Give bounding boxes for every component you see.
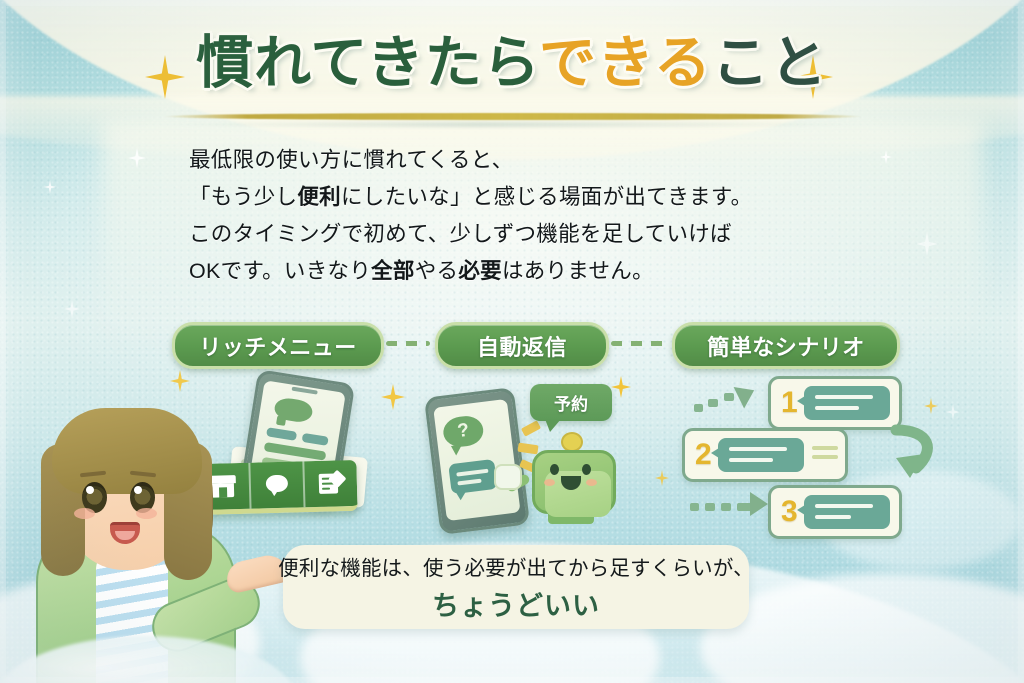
phone-notch bbox=[292, 387, 318, 395]
rich-menu-item-form[interactable] bbox=[304, 460, 357, 507]
reservation-bubble: 予約 bbox=[530, 384, 612, 421]
character-blush-right bbox=[136, 508, 157, 519]
body-line-1: 最低限の使い方に慣れてくると、 bbox=[189, 142, 752, 179]
character-eye-highlight-left bbox=[86, 486, 94, 494]
form-pencil-icon bbox=[318, 471, 345, 496]
scenario-bubble-icon bbox=[718, 438, 804, 472]
robot-antenna-ball bbox=[561, 432, 583, 452]
question-bubble-tail bbox=[451, 445, 463, 456]
step-pill-rich-menu[interactable]: リッチメニュー bbox=[172, 322, 384, 369]
robot-hand bbox=[494, 464, 522, 490]
title-divider bbox=[163, 113, 863, 120]
question-mark: ? bbox=[456, 420, 470, 443]
answer-bubble-icon bbox=[448, 459, 497, 494]
scenario-step-card-3: 3 bbox=[768, 485, 902, 539]
robot-mascot-illustration bbox=[528, 438, 614, 518]
bottom-caption: 便利な機能は、使う必要が出てから足すくらいが、 ちょうどいい bbox=[283, 545, 749, 629]
robot-cheek-left bbox=[544, 479, 555, 486]
caption-line-1: 便利な機能は、使う必要が出てから足すくらいが、 bbox=[278, 551, 754, 581]
question-bubble-icon: ? bbox=[442, 414, 485, 449]
step-connector-1 bbox=[386, 341, 430, 346]
scenario-bubble-icon bbox=[804, 386, 890, 420]
step-pill-label: 自動返信 bbox=[477, 330, 567, 362]
title-part-1: 慣れてきたら bbox=[196, 31, 539, 95]
character-illustration bbox=[14, 404, 282, 683]
step-pill-auto-reply[interactable]: 自動返信 bbox=[435, 322, 609, 369]
body-line-4: OKです。いきなり全部やる必要はありません。 bbox=[189, 253, 752, 290]
body-paragraph: 最低限の使い方に慣れてくると、 「もう少し便利にしたいな」と感じる場面が出てきま… bbox=[189, 142, 752, 290]
scenario-arrow-curve bbox=[890, 424, 950, 491]
title-divider-shadow bbox=[170, 122, 860, 127]
scenario-bubble-icon bbox=[804, 495, 890, 529]
title-accent: できる bbox=[539, 31, 712, 95]
character-eye-highlight-right bbox=[134, 486, 142, 494]
scenario-text-lines bbox=[812, 446, 838, 464]
scenario-step-card-1: 1 bbox=[768, 376, 902, 430]
slide-canvas: 慣れてきたらできること 最低限の使い方に慣れてくると、 「もう少し便利にしたいな… bbox=[0, 0, 1024, 683]
character-blush-left bbox=[74, 508, 95, 519]
robot-cheek-right bbox=[586, 479, 597, 486]
caption-line-2: ちょうどいい bbox=[432, 584, 600, 623]
title-part-3: こと bbox=[712, 31, 828, 95]
reservation-bubble-label: 予約 bbox=[554, 390, 588, 415]
body-line-2: 「もう少し便利にしたいな」と感じる場面が出てきます。 bbox=[189, 179, 752, 216]
robot-eye-right bbox=[582, 464, 591, 475]
auto-reply-phone-illustration: ? bbox=[424, 387, 530, 535]
scenario-step-number: 1 bbox=[781, 386, 798, 420]
curve-arrow-icon bbox=[890, 424, 950, 486]
page-title: 慣れてきたらできること bbox=[0, 33, 1024, 93]
scenario-step-number: 3 bbox=[781, 495, 798, 529]
reservation-bubble-tail bbox=[545, 419, 561, 432]
step-pill-label: リッチメニュー bbox=[199, 330, 357, 362]
robot-eye-left bbox=[550, 464, 559, 475]
step-connector-2 bbox=[611, 341, 665, 346]
step-pill-scenario[interactable]: 簡単なシナリオ bbox=[672, 322, 900, 369]
character-hair-bangs bbox=[52, 408, 202, 494]
scenario-step-card-2: 2 bbox=[682, 428, 848, 482]
body-line-3: このタイミングで初めて、少しずつ機能を足していけば bbox=[189, 216, 752, 253]
answer-bubble-tail bbox=[456, 490, 468, 500]
phone-screen: ? bbox=[433, 399, 520, 521]
scenario-step-number: 2 bbox=[695, 438, 712, 472]
step-pill-label: 簡単なシナリオ bbox=[707, 330, 865, 362]
